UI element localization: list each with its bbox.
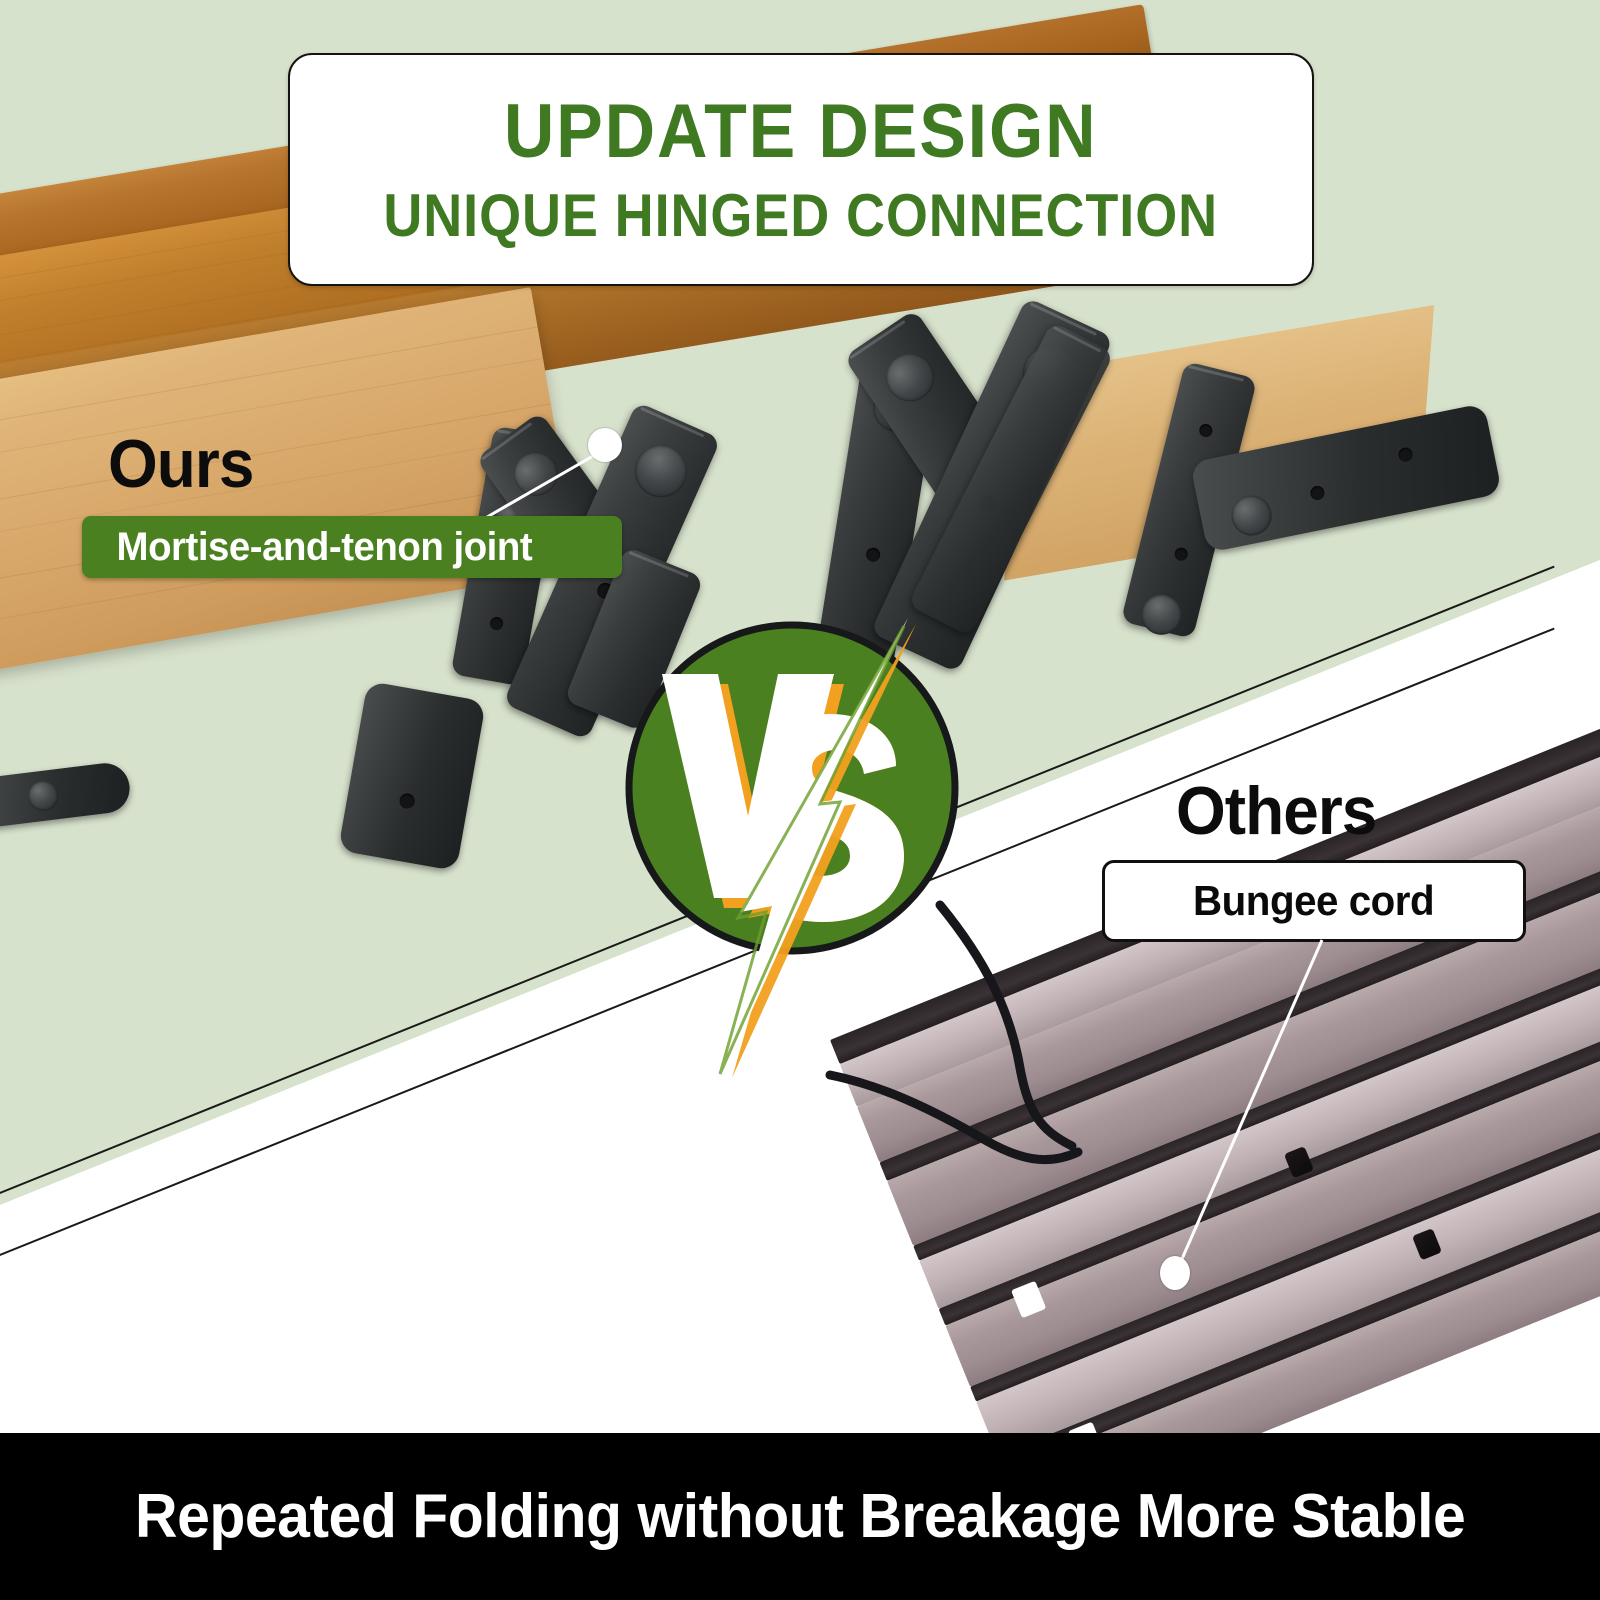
vs-badge bbox=[620, 612, 976, 1112]
product-comparison-image: UPDATE DESIGN UNIQUE HINGED CONNECTION O… bbox=[0, 0, 1600, 1600]
header-banner-card: UPDATE DESIGN UNIQUE HINGED CONNECTION bbox=[288, 53, 1314, 286]
ours-title: Ours bbox=[108, 425, 253, 503]
ours-feature-badge-label: Mortise-and-tenon joint bbox=[82, 525, 532, 570]
others-feature-badge: Bungee cord bbox=[1102, 860, 1526, 942]
others-callout-dot bbox=[1160, 1256, 1190, 1290]
others-feature-badge-label: Bungee cord bbox=[1193, 877, 1434, 925]
bottom-banner: Repeated Folding without Breakage More S… bbox=[0, 1433, 1600, 1600]
others-title: Others bbox=[1176, 772, 1376, 850]
header-title-line-2: UNIQUE HINGED CONNECTION bbox=[384, 186, 1219, 246]
ours-callout-dot bbox=[588, 428, 622, 462]
header-title-line-1: UPDATE DESIGN bbox=[504, 94, 1098, 170]
bottom-banner-text: Repeated Folding without Breakage More S… bbox=[135, 1481, 1465, 1552]
ours-feature-badge: Mortise-and-tenon joint bbox=[82, 516, 622, 578]
